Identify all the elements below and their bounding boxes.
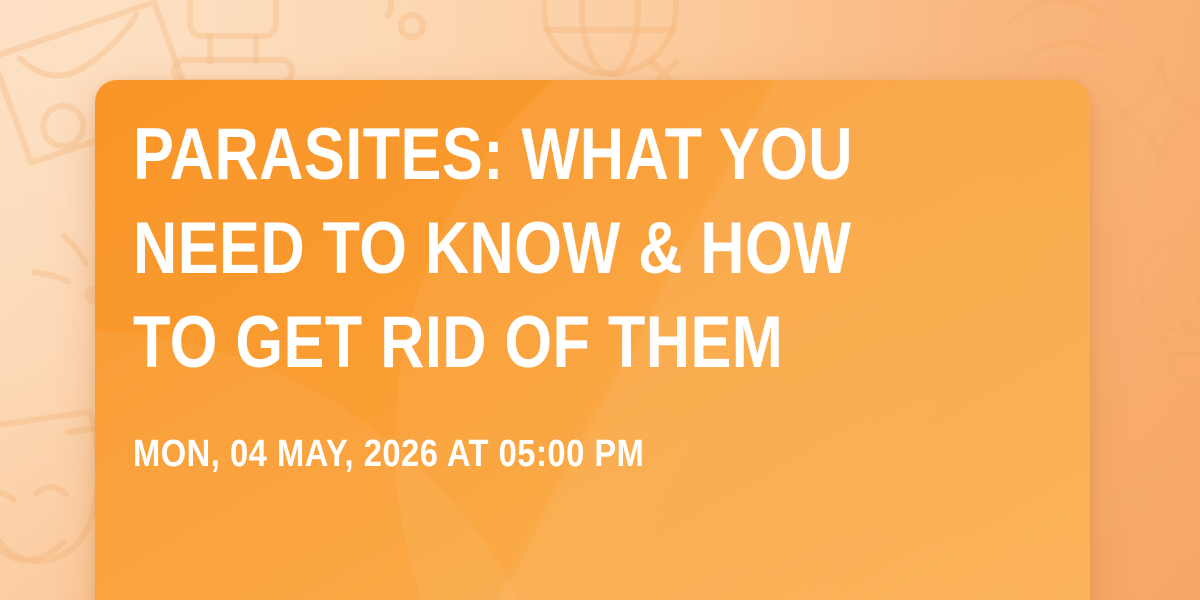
event-card: Parasites: What You Need to Know & How t… — [95, 80, 1090, 600]
confetti-icon — [34, 272, 68, 282]
sparkle-icon — [388, 0, 391, 16]
sparkle-icon — [1116, 60, 1200, 168]
hot-air-balloon-icon — [1140, 236, 1200, 380]
popcorn-icon — [1112, 460, 1200, 600]
event-banner: Parasites: What You Need to Know & How t… — [0, 0, 1200, 600]
microphone-icon — [174, 0, 292, 82]
confetti-icon — [64, 236, 86, 264]
event-datetime: Mon, 04 May, 2026 at 05:00 PM — [133, 432, 904, 476]
event-title: Parasites: What You Need to Know & How t… — [133, 108, 886, 390]
dot-icon — [401, 15, 423, 37]
confetti-icon — [1010, 0, 1108, 56]
globe-icon — [544, 0, 676, 86]
card-content: Parasites: What You Need to Know & How t… — [133, 108, 1030, 476]
